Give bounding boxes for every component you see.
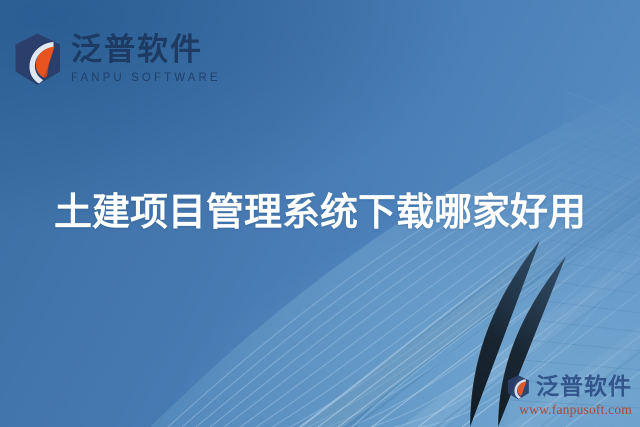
brand-name-cn: 泛普软件 [71, 35, 221, 66]
brand-name-en: FANPU SOFTWARE [71, 73, 221, 85]
fanpu-watermark-logo-icon [505, 375, 532, 400]
brand-text: 泛普软件 FANPU SOFTWARE [71, 35, 221, 85]
watermark-logo-row: 泛普软件 [505, 375, 632, 400]
brand-lockup: 泛普软件 FANPU SOFTWARE [14, 33, 221, 86]
promotional-banner: 泛普软件 FANPU SOFTWARE 土建项目管理系统下载哪家好用 泛普软件 … [0, 0, 640, 427]
watermark-url: www.fanpusoft.com [519, 402, 632, 418]
fanpu-logo-icon [14, 33, 62, 86]
page-title: 土建项目管理系统下载哪家好用 [0, 181, 640, 236]
watermark: 泛普软件 www.fanpusoft.com [505, 375, 632, 418]
watermark-name: 泛普软件 [536, 376, 632, 399]
